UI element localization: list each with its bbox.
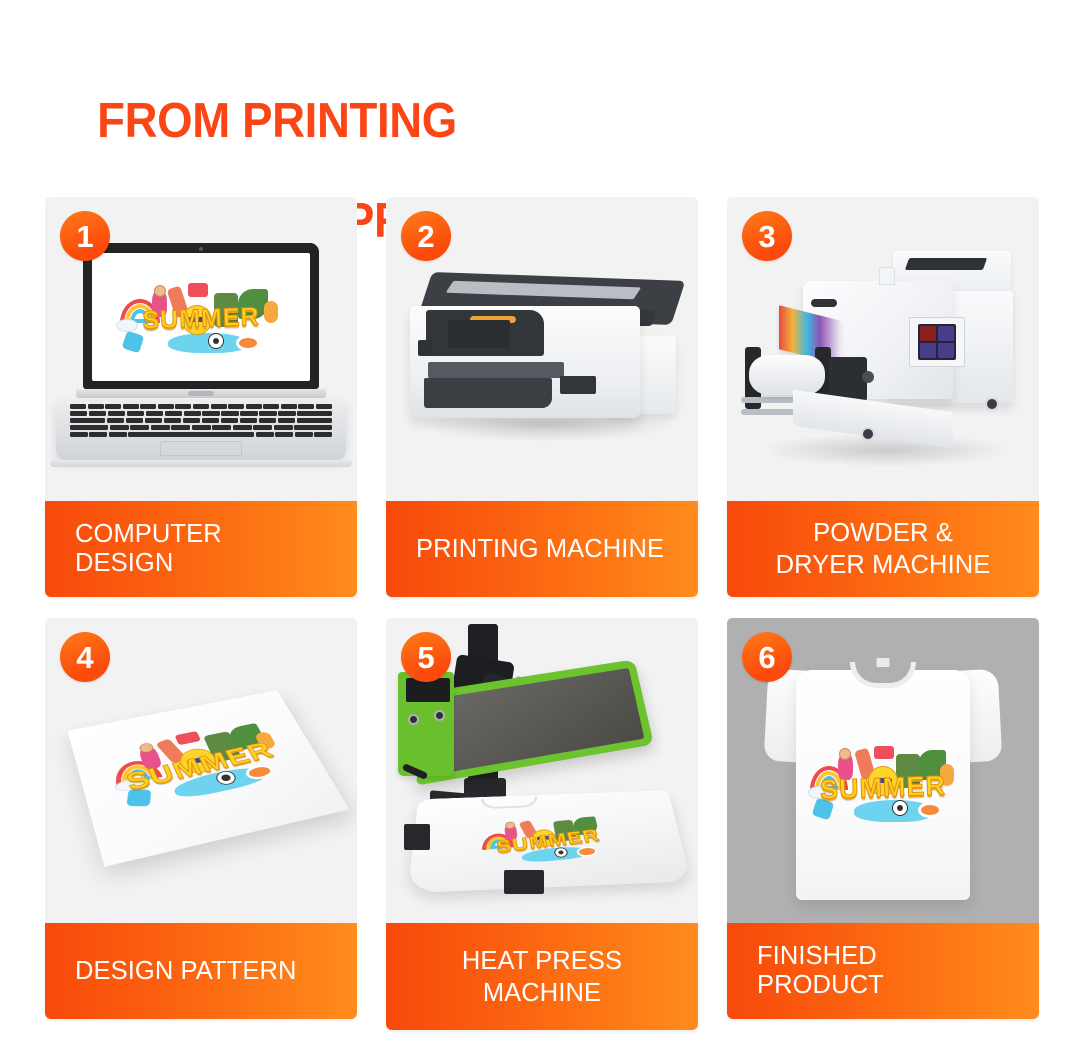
step-card-6[interactable]: 6 bbox=[727, 618, 1039, 1030]
infographic-page: FROM PRINTING TO FINISHED PRODUCT 1 bbox=[0, 0, 1080, 1063]
roller-motor bbox=[829, 357, 867, 401]
laptop-foot bbox=[50, 460, 352, 467]
caster-wheel bbox=[861, 427, 875, 441]
tshirt-on-press: SUMMER bbox=[407, 790, 691, 893]
step-label-1: COMPUTER DESIGN bbox=[45, 501, 357, 597]
tshirt-neck-tag bbox=[877, 658, 890, 667]
keyboard-row bbox=[70, 425, 332, 430]
step-photo-heat-press: 5 bbox=[386, 618, 698, 923]
step-label-6: FINISHED PRODUCT bbox=[727, 923, 1039, 1019]
printer-carriage-rail bbox=[428, 362, 564, 378]
step-photo-computer-design: 1 bbox=[45, 197, 357, 501]
webcam-icon bbox=[199, 247, 203, 251]
step-photo-finished-product: 6 bbox=[727, 618, 1039, 923]
lcd-segment bbox=[938, 326, 954, 341]
laptop-icon: SUMMER bbox=[56, 243, 346, 473]
step-number-badge-5: 5 bbox=[401, 632, 451, 682]
powder-dryer-icon bbox=[741, 251, 1031, 481]
step-card-1[interactable]: 1 bbox=[45, 197, 357, 597]
lcd-segment bbox=[938, 343, 954, 358]
tshirt-collar bbox=[481, 796, 539, 809]
tshirt-icon: SUMMER bbox=[766, 652, 1000, 900]
summer-artwork-press: SUMMER bbox=[478, 812, 621, 871]
printer-output-tray bbox=[424, 378, 552, 408]
transfer-sheet: SUMMER bbox=[68, 690, 350, 867]
step-card-4[interactable]: 4 bbox=[45, 618, 357, 1030]
press-knob[interactable] bbox=[434, 710, 445, 721]
keyboard-row bbox=[70, 411, 332, 416]
keyboard-row bbox=[70, 404, 332, 409]
step-photo-design-pattern: 4 bbox=[45, 618, 357, 923]
caster-wheel bbox=[985, 397, 999, 411]
steps-grid: 1 bbox=[45, 197, 1040, 1030]
summer-artwork-screen: SUMMER bbox=[116, 283, 286, 353]
laptop-base bbox=[56, 398, 346, 460]
step-label-text-4: DESIGN PATTERN bbox=[75, 957, 296, 986]
press-lever[interactable] bbox=[402, 763, 429, 780]
dryer-control-screen bbox=[909, 317, 965, 367]
artwork-word: SUMMER bbox=[142, 303, 260, 336]
step-label-text-5: HEAT PRESS MACHINE bbox=[462, 945, 622, 1009]
step-card-5[interactable]: 5 bbox=[386, 618, 698, 1030]
summer-artwork-tshirt: SUMMER bbox=[808, 746, 958, 826]
laptop-lid: SUMMER bbox=[83, 243, 319, 389]
press-foot-left bbox=[404, 824, 430, 850]
step-label-4: DESIGN PATTERN bbox=[45, 923, 357, 1019]
step-number-badge-3: 3 bbox=[742, 211, 792, 261]
step-photo-printing-machine: 2 bbox=[386, 197, 698, 501]
printer-top-glass bbox=[446, 281, 642, 299]
press-knob[interactable] bbox=[408, 714, 419, 725]
lcd-segment bbox=[920, 326, 936, 341]
printer-front-slot bbox=[560, 376, 596, 394]
step-label-2: PRINTING MACHINE bbox=[386, 501, 698, 597]
keyboard-row bbox=[70, 432, 332, 437]
step-number-badge-4: 4 bbox=[60, 632, 110, 682]
summer-artwork-sheet: SUMMER bbox=[103, 716, 301, 817]
dryer-rear-slot bbox=[905, 258, 987, 270]
film-roll bbox=[749, 355, 825, 395]
keyboard-row bbox=[70, 418, 332, 423]
dryer-handle bbox=[811, 299, 837, 307]
step-label-text-3: POWDER & DRYER MACHINE bbox=[776, 517, 991, 581]
step-card-3[interactable]: 3 bbox=[727, 197, 1039, 597]
lcd-segment bbox=[920, 343, 936, 358]
step-card-2[interactable]: 2 bbox=[386, 197, 698, 597]
dryer-chimney bbox=[879, 267, 895, 285]
laptop-trackpad bbox=[160, 441, 242, 456]
step-number-badge-2: 2 bbox=[401, 211, 451, 261]
step-label-3: POWDER & DRYER MACHINE bbox=[727, 501, 1039, 597]
artwork-word: SUMMER bbox=[819, 770, 946, 805]
dryer-lcd-display bbox=[918, 324, 956, 360]
step-label-5: HEAT PRESS MACHINE bbox=[386, 923, 698, 1030]
printer-body bbox=[410, 306, 640, 418]
step-photo-powder-dryer: 3 bbox=[727, 197, 1039, 501]
printer-icon bbox=[410, 272, 682, 437]
page-title-line-1: FROM PRINTING bbox=[97, 94, 457, 148]
step-number-badge-6: 6 bbox=[742, 632, 792, 682]
step-number-badge-1: 1 bbox=[60, 211, 110, 261]
tshirt-body: SUMMER bbox=[796, 670, 970, 900]
step-label-text-1: COMPUTER DESIGN bbox=[75, 520, 327, 578]
press-control-box bbox=[398, 672, 454, 776]
printer-left-vent bbox=[418, 340, 432, 356]
step-label-text-6: FINISHED PRODUCT bbox=[757, 942, 1009, 1000]
step-label-text-2: PRINTING MACHINE bbox=[416, 535, 664, 564]
press-foot-front bbox=[504, 870, 544, 894]
laptop-hinge-notch bbox=[188, 391, 214, 396]
laptop-keyboard bbox=[70, 404, 332, 437]
laptop-screen: SUMMER bbox=[92, 253, 310, 381]
printer-display-panel bbox=[448, 320, 510, 348]
